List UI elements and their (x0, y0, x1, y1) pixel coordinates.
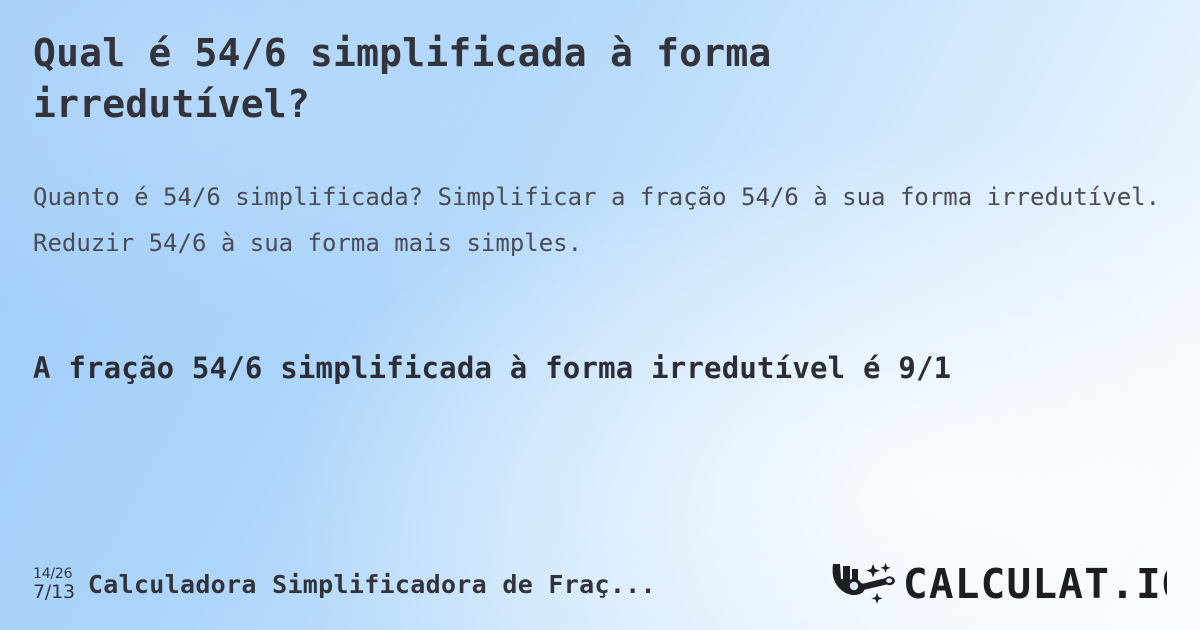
page-description: Quanto é 54/6 simplificada? Simplificar … (33, 174, 1168, 266)
magic-wand-hand-icon (833, 563, 895, 604)
brand-logo: CALCULAT.IO (827, 560, 1167, 608)
card-footer: 14/26 7/13 Calculadora Simplificadora de… (0, 538, 1200, 630)
card-content: Qual é 54/6 simplificada à forma irredut… (0, 0, 1200, 630)
fraction-reduction-icon: 14/26 7/13 (33, 567, 75, 602)
page-title: Qual é 54/6 simplificada à forma irredut… (33, 28, 1033, 130)
og-card: Qual é 54/6 simplificada à forma irredut… (0, 0, 1200, 630)
brand-wordmark: CALCULAT.IO (903, 560, 1167, 608)
brand-wordmark-text: CALCULAT.IO (903, 560, 1167, 608)
fraction-icon-reduced: 7/13 (33, 583, 75, 602)
footer-site-identity: 14/26 7/13 Calculadora Simplificadora de… (33, 567, 803, 602)
site-name-label: Calculadora Simplificadora de Fraç... (88, 570, 656, 599)
answer-statement: A fração 54/6 simplificada à forma irred… (33, 345, 1173, 392)
fraction-icon-original: 14/26 (33, 567, 72, 581)
